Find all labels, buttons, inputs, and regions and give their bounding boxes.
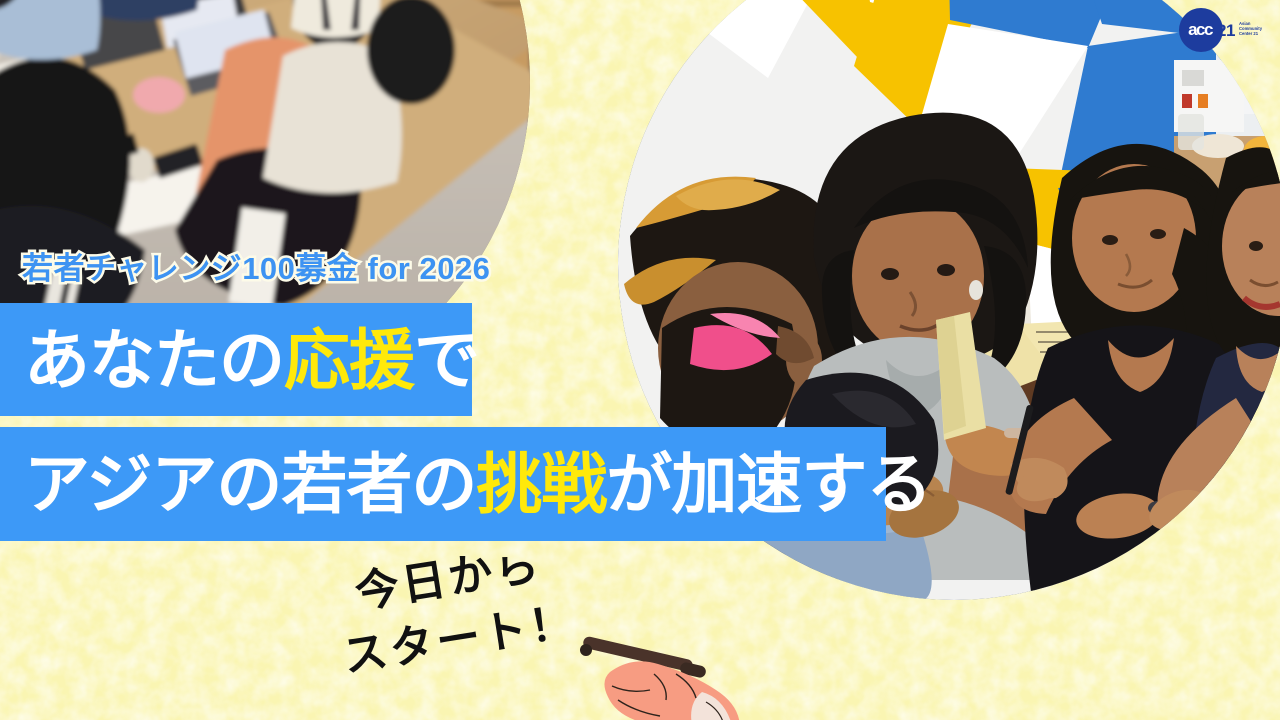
- headline-band-1: あなたの応援で: [0, 303, 472, 416]
- band-1-after: で: [414, 323, 479, 397]
- logo-wordmark: acc: [1188, 20, 1212, 40]
- headline-band-2: アジアの若者の挑戦が加速する: [0, 427, 886, 541]
- band-2-after: が加速する: [606, 447, 931, 521]
- hand-icon: [604, 661, 740, 720]
- headline-band-1-text: あなたの応援で: [0, 327, 479, 393]
- logo-tagline: Asian Community Center 21: [1239, 21, 1267, 37]
- acc21-logo: acc 21 Asian Community Center 21: [1179, 8, 1267, 52]
- hand-holding-pen-icon: [576, 630, 746, 720]
- campaign-kicker: 若者チャレンジ100募金 for 2026: [22, 243, 490, 288]
- band-2-before: アジアの若者の: [24, 447, 476, 521]
- logo-number: 21: [1217, 21, 1235, 41]
- band-1-highlight: 応援: [284, 323, 414, 397]
- band-1-before: あなたの: [24, 323, 284, 397]
- band-2-highlight: 挑戦: [476, 447, 606, 521]
- headline-band-2-text: アジアの若者の挑戦が加速する: [0, 451, 931, 517]
- poster-canvas: acc 21 Asian Community Center 21 若者チャレンジ…: [0, 0, 1280, 720]
